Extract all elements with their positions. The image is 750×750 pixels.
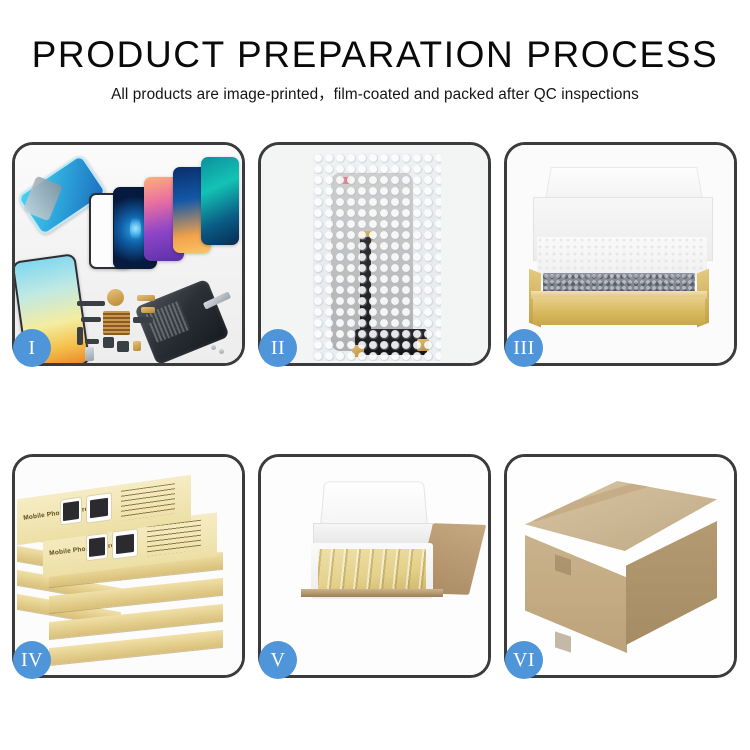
step-badge-5: V: [259, 641, 297, 679]
step-image-6: [507, 457, 734, 675]
box-screen-art-top-a: [61, 498, 81, 525]
step-panel-4[interactable]: Mobile Phone Spare Parts Mobile Phone Sp…: [12, 454, 245, 678]
step-panel-5[interactable]: V: [258, 454, 491, 678]
part-gold-flex-b: [141, 307, 155, 313]
page-header: PRODUCT PREPARATION PROCESS All products…: [0, 34, 750, 104]
step-badge-4: IV: [13, 641, 51, 679]
box-screen-art-lower-b: [113, 530, 137, 559]
step-image-1: [15, 145, 242, 363]
part-sim-tray: [85, 347, 94, 361]
part-flex-strip-d: [133, 317, 153, 323]
packed-retail-boxes: [318, 549, 426, 593]
part-camera-module: [103, 337, 114, 348]
raw-parts-photo: [15, 145, 242, 363]
step-image-2: [261, 145, 488, 363]
part-gold-coil: [107, 289, 124, 306]
step-badge-1: I: [13, 329, 51, 367]
part-gold-bracket: [133, 341, 141, 351]
process-step-grid: I: [12, 142, 738, 678]
page-subtitle: All products are image-printed，film-coat…: [0, 82, 750, 104]
step-badge-2: II: [259, 329, 297, 367]
carton-body: [303, 593, 441, 655]
part-flex-strip-c: [85, 339, 99, 344]
step-image-5: [261, 457, 488, 675]
part-flex-strip-b: [77, 327, 83, 345]
step-badge-6: VI: [505, 641, 543, 679]
step-panel-6[interactable]: VI: [504, 454, 737, 678]
phone-screen-teal-swirl: [201, 157, 239, 245]
step-image-3: [507, 145, 734, 363]
step-badge-3: III: [505, 329, 543, 367]
stacked-retail-boxes-photo: Mobile Phone Spare Parts Mobile Phone Sp…: [15, 457, 242, 675]
part-chip-array: [103, 311, 130, 335]
bubble-texture: [313, 153, 441, 361]
step-panel-1[interactable]: I: [12, 142, 245, 366]
box-front-panel: [533, 297, 705, 325]
box-screen-art-lower-a: [87, 534, 107, 560]
page-title: PRODUCT PREPARATION PROCESS: [0, 34, 750, 75]
step-panel-2[interactable]: II: [258, 142, 491, 366]
part-gold-flex-a: [137, 295, 155, 301]
box-screen-art-top-b: [87, 493, 111, 522]
part-flex-strip-a: [81, 317, 101, 322]
bubble-wrapped-screen-photo: [261, 145, 488, 363]
part-screw-a: [211, 345, 216, 350]
part-speaker-box: [117, 341, 129, 352]
bubble-wrap-bag: [313, 153, 441, 361]
part-earpiece-mesh: [77, 301, 105, 306]
carton-packing-photo: [261, 457, 488, 675]
foam-lined-box-photo: [507, 145, 734, 363]
part-screw-b: [219, 349, 224, 354]
product-preparation-page: PRODUCT PREPARATION PROCESS All products…: [0, 0, 750, 750]
sealed-carton-photo: [507, 457, 734, 675]
step-image-4: Mobile Phone Spare Parts Mobile Phone Sp…: [15, 457, 242, 675]
step-panel-3[interactable]: III: [504, 142, 737, 366]
